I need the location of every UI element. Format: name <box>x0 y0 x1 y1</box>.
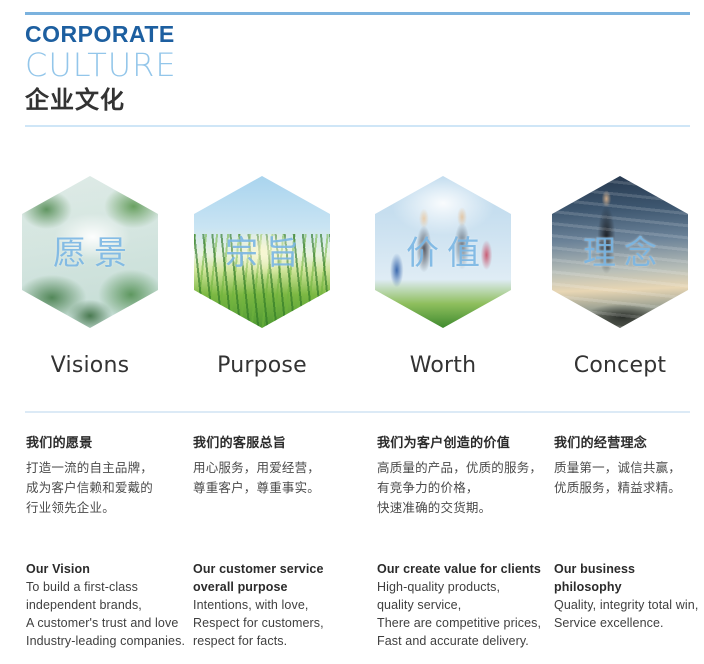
hexagon-caption: Visions <box>8 353 172 378</box>
column-line-cn: 尊重客户，尊重事实。 <box>193 478 371 498</box>
column-line-cn: 打造一流的自主品牌， <box>26 458 191 478</box>
column-line-en: Fast and accurate delivery. <box>377 632 552 650</box>
column-line-cn: 行业领先企业。 <box>26 498 191 518</box>
column-body-cn: 用心服务，用爱经营， 尊重客户，尊重事实。 <box>193 458 371 498</box>
hexagon-overlay-label: 愿景 <box>22 226 158 274</box>
column-line-en: There are competitive prices, <box>377 614 552 632</box>
column-title-en: overall purpose <box>193 578 371 596</box>
column-line-cn: 快速准确的交货期。 <box>377 498 552 518</box>
divider-top <box>25 12 690 15</box>
column-body-cn: 高质量的产品，优质的服务， 有竞争力的价格， 快速准确的交货期。 <box>377 458 552 518</box>
column-line-en: High-quality products, <box>377 578 552 596</box>
column-title-cn: 我们的经营理念 <box>554 432 704 451</box>
corporate-culture-page: CORPORATE CULTURE 企业文化 愿景 Visions 宗旨 Pur… <box>0 0 704 664</box>
column-line-en: Intentions, with love, <box>193 596 371 614</box>
column-body-en: Our customer service overall purpose Int… <box>193 560 371 650</box>
hexagon-card-worth[interactable]: 价值 Worth <box>361 176 525 378</box>
column-line-cn: 高质量的产品，优质的服务， <box>377 458 552 478</box>
column-line-en: respect for facts. <box>193 632 371 650</box>
hexagon-shape: 愿景 <box>22 176 158 328</box>
column-line-cn: 质量第一，诚信共赢， <box>554 458 704 478</box>
hexagon-card-purpose[interactable]: 宗旨 Purpose <box>180 176 344 378</box>
hexagon-shape: 理念 <box>552 176 688 328</box>
hexagon-shape: 价值 <box>375 176 511 328</box>
hexagon-row: 愿景 Visions 宗旨 Purpose 价值 Worth 理念 Concep… <box>0 176 704 386</box>
hexagon-overlay-label: 价值 <box>375 226 511 274</box>
hexagon-caption: Worth <box>361 353 525 378</box>
text-column-customer-service: 我们的客服总旨 用心服务，用爱经营， 尊重客户，尊重事实。 Our custom… <box>193 432 371 498</box>
column-line-en: Respect for customers, <box>193 614 371 632</box>
column-title-en: Our business philosophy <box>554 560 704 596</box>
hexagon-caption: Purpose <box>180 353 344 378</box>
column-title-en: Our Vision <box>26 560 191 578</box>
column-title-en: Our create value for clients <box>377 560 552 578</box>
page-header: CORPORATE CULTURE 企业文化 <box>25 22 177 115</box>
hexagon-card-concept[interactable]: 理念 Concept <box>538 176 702 378</box>
column-line-cn: 有竞争力的价格， <box>377 478 552 498</box>
column-body-en: Our business philosophy Quality, integri… <box>554 560 704 632</box>
column-line-en: To build a first-class <box>26 578 191 596</box>
column-line-en: Industry-leading companies. <box>26 632 191 650</box>
column-body-en: Our create value for clients High-qualit… <box>377 560 552 650</box>
text-column-business-philosophy: 我们的经营理念 质量第一，诚信共赢， 优质服务，精益求精。 Our busine… <box>554 432 704 498</box>
page-title-chinese: 企业文化 <box>25 86 177 115</box>
column-body-cn: 质量第一，诚信共赢， 优质服务，精益求精。 <box>554 458 704 498</box>
column-line-cn: 用心服务，用爱经营， <box>193 458 371 478</box>
page-title-culture: CULTURE <box>25 47 177 84</box>
column-body-en: Our Vision To build a first-class indepe… <box>26 560 191 650</box>
hexagon-shape: 宗旨 <box>194 176 330 328</box>
column-title-cn: 我们的客服总旨 <box>193 432 371 451</box>
page-title-corporate: CORPORATE <box>25 22 177 46</box>
column-line-cn: 优质服务，精益求精。 <box>554 478 704 498</box>
hexagon-overlay-label: 理念 <box>552 226 688 274</box>
hexagon-caption: Concept <box>538 353 702 378</box>
column-title-cn: 我们的愿景 <box>26 432 191 451</box>
divider-middle <box>25 125 690 127</box>
hexagon-overlay-label: 宗旨 <box>194 226 330 274</box>
column-title-en: Our customer service <box>193 560 371 578</box>
column-line-en: quality service, <box>377 596 552 614</box>
hexagon-card-visions[interactable]: 愿景 Visions <box>8 176 172 378</box>
column-line-en: A customer's trust and love <box>26 614 191 632</box>
divider-bottom <box>25 411 690 413</box>
column-line-en: independent brands, <box>26 596 191 614</box>
text-column-create-value: 我们为客户创造的价值 高质量的产品，优质的服务， 有竞争力的价格， 快速准确的交… <box>377 432 552 518</box>
column-line-en: Quality, integrity total win, <box>554 596 704 614</box>
column-line-en: Service excellence. <box>554 614 704 632</box>
column-title-cn: 我们为客户创造的价值 <box>377 432 552 451</box>
text-column-vision: 我们的愿景 打造一流的自主品牌， 成为客户信赖和爱戴的 行业领先企业。 Our … <box>26 432 191 518</box>
column-line-cn: 成为客户信赖和爱戴的 <box>26 478 191 498</box>
column-body-cn: 打造一流的自主品牌， 成为客户信赖和爱戴的 行业领先企业。 <box>26 458 191 518</box>
